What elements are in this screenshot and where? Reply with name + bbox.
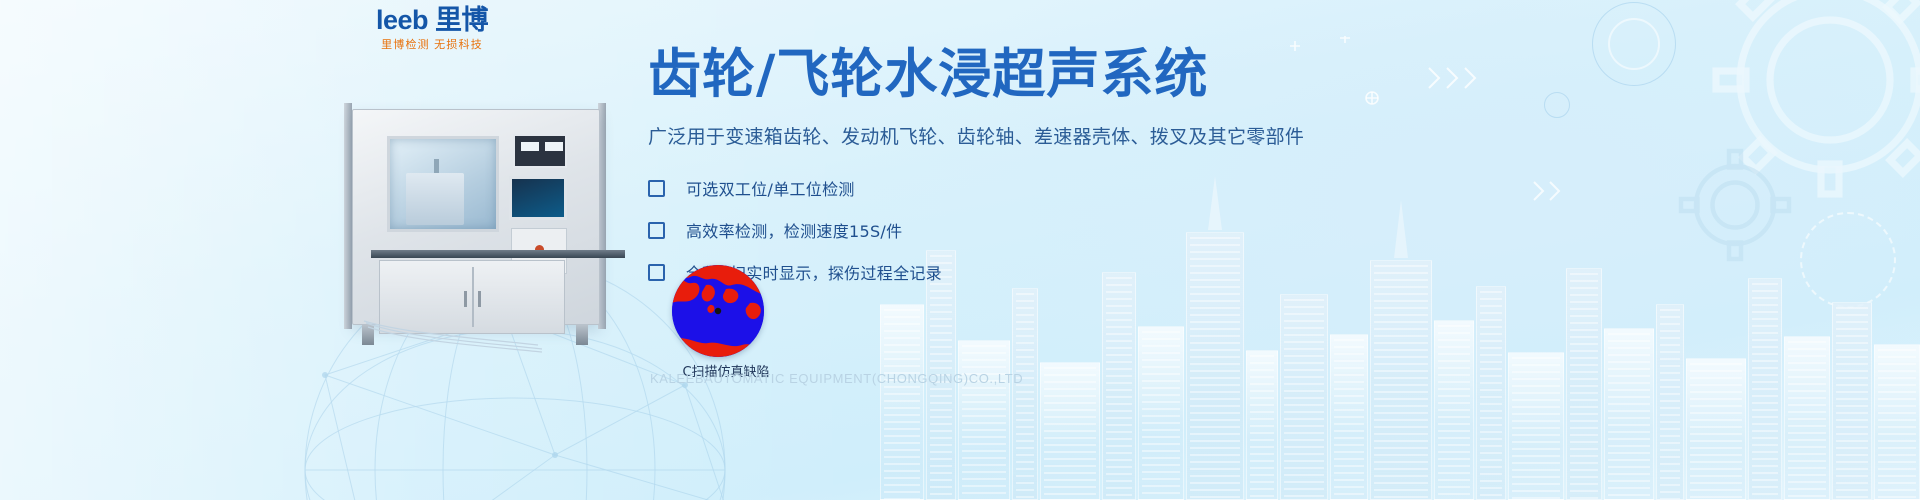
logo-tagline: 里博检测 无损科技 <box>342 36 522 52</box>
logo-wordmark: leeb 里博 <box>342 6 522 34</box>
list-item[interactable]: 可选双工位/单工位检测 <box>648 171 1748 205</box>
machine-cables <box>346 319 546 353</box>
list-item[interactable]: 全程C扫实时显示，探伤过程全记录 <box>648 255 1748 289</box>
machine-workpiece <box>406 173 464 225</box>
promo-banner: leeb 里博 里博检测 无损科技 <box>0 0 1920 500</box>
cscan-figure: C扫描仿真缺陷 <box>672 265 792 385</box>
page-title: 齿轮/飞轮水浸超声系统 <box>648 46 1748 104</box>
machine-display-screen <box>509 176 567 220</box>
brand-logo[interactable]: leeb 里博 里博检测 无损科技 <box>342 6 522 52</box>
product-photo <box>330 95 620 345</box>
list-item[interactable]: 高效率检测，检测速度15S/件 <box>648 213 1748 247</box>
machine-cabinet <box>352 109 600 325</box>
feature-label: 高效率检测，检测速度15S/件 <box>686 218 902 242</box>
checkbox-icon[interactable] <box>648 264 665 281</box>
machine-leg <box>576 325 588 345</box>
feature-list: 可选双工位/单工位检测 高效率检测，检测速度15S/件 全程C扫实时显示，探伤过… <box>648 171 1748 289</box>
machine-control-panel <box>513 134 567 168</box>
machine-inspection-window <box>387 136 499 232</box>
checkbox-icon[interactable] <box>648 180 665 197</box>
hero-content: 齿轮/飞轮水浸超声系统 广泛用于变速箱齿轮、发动机飞轮、齿轮轴、差速器壳体、拨叉… <box>648 46 1748 297</box>
feature-label: 可选双工位/单工位检测 <box>686 176 855 200</box>
checkbox-icon[interactable] <box>648 222 665 239</box>
page-subtitle: 广泛用于变速箱齿轮、发动机飞轮、齿轮轴、差速器壳体、拨叉及其它零部件 <box>648 122 1748 149</box>
machine-frame-left <box>344 103 352 329</box>
machine-rail <box>371 250 625 258</box>
company-name: KALEEBAUTOMATIC EQUIPMENT(CHONGQING)CO.,… <box>650 371 1023 386</box>
cscan-image <box>672 265 764 357</box>
